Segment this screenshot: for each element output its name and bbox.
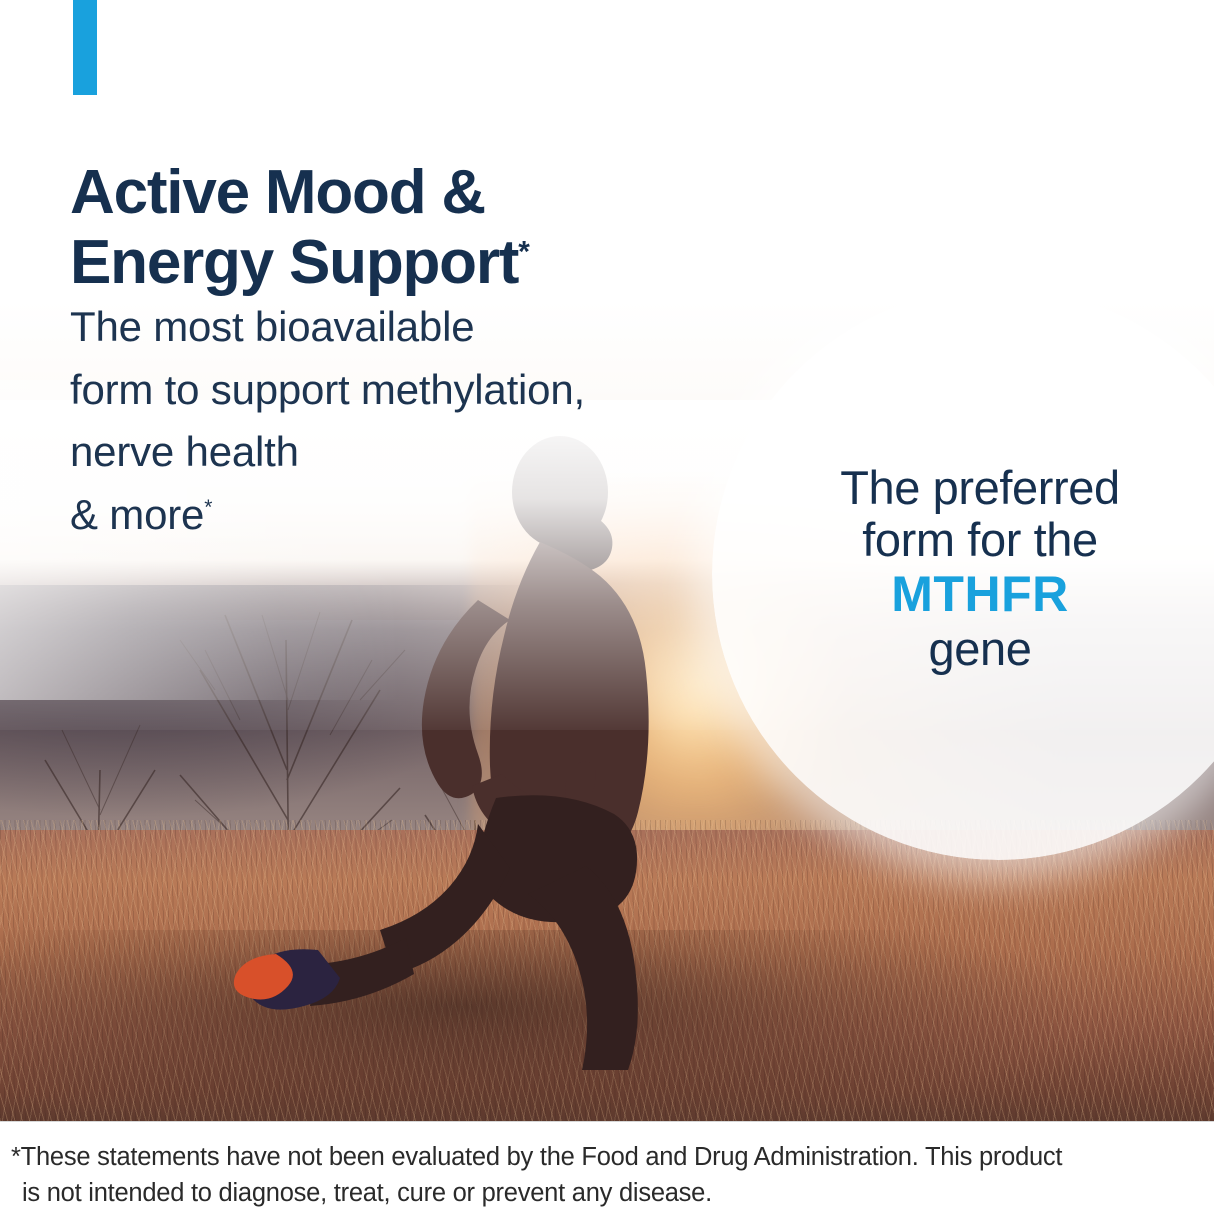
- badge-line-2: form for the: [760, 514, 1200, 566]
- disclaimer-line-1: *These statements have not been evaluate…: [11, 1139, 1203, 1175]
- disclaimer-text: *These statements have not been evaluate…: [11, 1139, 1203, 1211]
- subhead-line-4-text: & more: [70, 491, 204, 538]
- subhead-line-2: form to support methylation,: [70, 359, 770, 422]
- badge-line-3: gene: [760, 623, 1200, 675]
- headline-line-1: Active Mood &: [70, 158, 770, 229]
- subheadline: The most bioavailable form to support me…: [70, 296, 770, 546]
- disclaimer-footer: *These statements have not been evaluate…: [0, 1121, 1214, 1214]
- subhead-line-4: & more*: [70, 484, 770, 547]
- page-title: Active Mood & Energy Support*: [70, 158, 770, 299]
- headline-line-2: Energy Support*: [70, 228, 770, 299]
- badge-highlight-mthfr: MTHFR: [760, 567, 1200, 622]
- disclaimer-line-2: is not intended to diagnose, treat, cure…: [11, 1175, 1203, 1211]
- mthfr-badge-text: The preferred form for the MTHFR gene: [760, 462, 1200, 675]
- headline-line-2-text: Energy Support: [70, 228, 518, 297]
- headline-asterisk: *: [518, 236, 528, 269]
- promo-banner: The preferred form for the MTHFR gene Ac…: [0, 0, 1214, 1214]
- subhead-line-3: nerve health: [70, 421, 770, 484]
- subhead-line-1: The most bioavailable: [70, 296, 770, 359]
- subhead-asterisk: *: [204, 496, 212, 519]
- badge-line-1: The preferred: [760, 462, 1200, 514]
- accent-bar: [73, 0, 97, 95]
